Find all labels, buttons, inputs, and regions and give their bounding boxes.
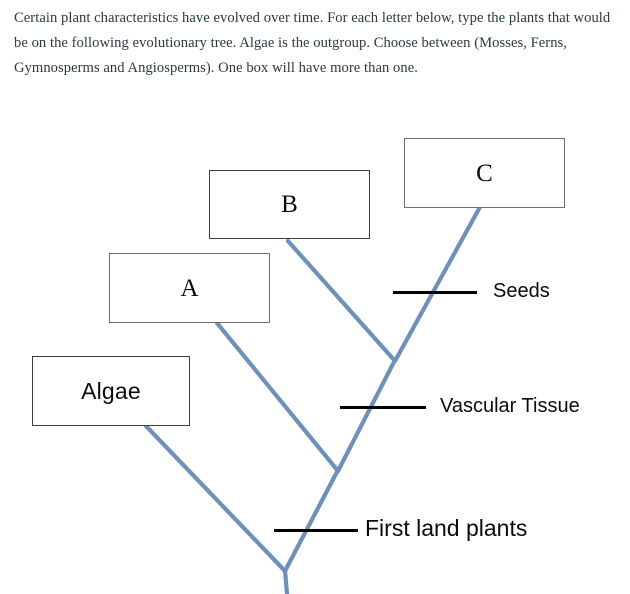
- branch-c: [395, 207, 480, 361]
- branch-node2-to-node3: [338, 360, 395, 471]
- taxon-box-algae-label: Algae: [81, 380, 141, 403]
- taxon-box-a[interactable]: A: [109, 253, 270, 323]
- taxon-box-c[interactable]: C: [404, 138, 565, 208]
- branch-root-trunk: [285, 570, 287, 594]
- trait-tick-first-land-plants: [274, 529, 358, 532]
- branch-root-to-node2: [285, 470, 338, 571]
- taxon-box-a-label: A: [180, 276, 198, 301]
- trait-tick-vascular-tissue: [340, 406, 426, 409]
- trait-label-first-land-plants: First land plants: [365, 517, 527, 540]
- branch-b: [288, 241, 395, 361]
- branch-a: [217, 323, 338, 471]
- taxon-box-b-label: B: [281, 192, 298, 217]
- taxon-box-b[interactable]: B: [209, 170, 370, 239]
- evolutionary-tree-diagram: Algae A B C Seeds Vascular Tissue First …: [0, 0, 630, 594]
- taxon-box-c-label: C: [476, 161, 493, 186]
- trait-tick-seeds: [393, 291, 477, 294]
- branch-algae: [146, 426, 285, 571]
- trait-label-vascular-tissue: Vascular Tissue: [440, 396, 580, 416]
- trait-label-seeds: Seeds: [493, 281, 550, 301]
- taxon-box-algae[interactable]: Algae: [32, 356, 190, 426]
